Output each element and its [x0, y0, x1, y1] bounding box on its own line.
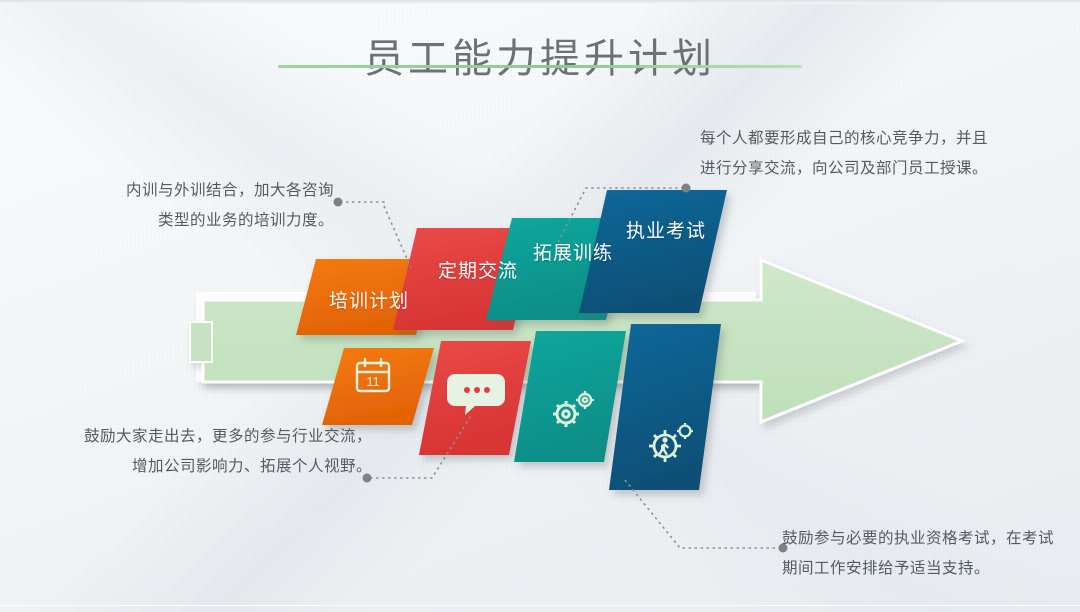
connector-line-bottom-right	[625, 480, 780, 548]
callout-bottom-right: 鼓励参与必要的执业资格考试，在考试期间工作安排给予适当支持。	[782, 524, 1062, 584]
connector-line-top-left	[340, 202, 411, 268]
callout-top-right: 每个人都要形成自己的核心竞争力，并且进行分享交流，向公司及部门员工授课。	[700, 124, 1000, 184]
callout-top-left: 内训与外训结合，加大各咨询类型的业务的培训力度。	[118, 176, 334, 236]
callout-bottom-left: 鼓励大家走出去，更多的参与行业交流，增加公司影响力、拓展个人视野。	[82, 422, 372, 482]
step-label-3: 执业考试	[626, 216, 706, 243]
step-label-1: 定期交流	[438, 256, 518, 283]
step-label-2: 拓展训练	[533, 238, 613, 265]
connector-dot-top-right	[682, 184, 691, 193]
process-diagram: 11	[0, 0, 1080, 612]
calendar-icon-label: 11	[366, 374, 380, 389]
connector-dot-top-left	[334, 198, 343, 207]
step-label-0: 培训计划	[329, 286, 409, 313]
slide-canvas: 员工能力提升计划	[0, 0, 1080, 612]
